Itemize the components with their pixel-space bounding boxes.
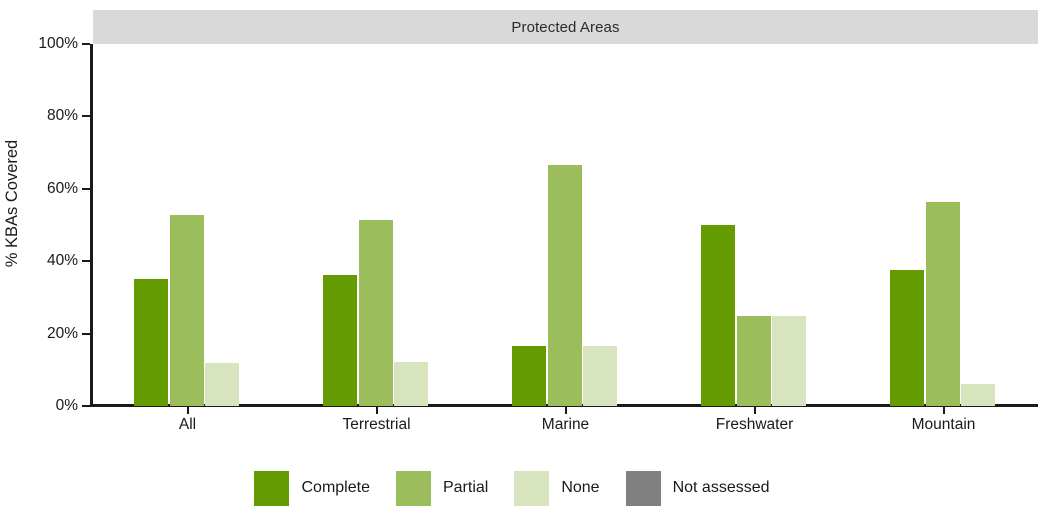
x-axis-label-freshwater: Freshwater	[716, 416, 794, 434]
bar-marine-none	[583, 346, 617, 406]
x-axis-tick	[376, 407, 378, 414]
x-axis-tick	[754, 407, 756, 414]
legend-label: None	[561, 479, 599, 497]
y-axis-tick	[82, 333, 90, 335]
legend-swatch-icon	[254, 471, 289, 506]
legend-item-partial[interactable]: Partial	[396, 471, 514, 506]
y-axis-tick	[82, 260, 90, 262]
y-axis-tick-label: 60%	[0, 180, 78, 198]
bar-all-partial	[170, 215, 204, 406]
bar-terrestrial-partial	[359, 220, 393, 406]
x-axis-label-all: All	[179, 416, 196, 434]
legend-label: Complete	[301, 479, 369, 497]
bar-mountain-none	[961, 384, 995, 406]
panel-title: Protected Areas	[511, 19, 619, 36]
plot-area	[93, 44, 1038, 406]
y-axis-tick	[82, 188, 90, 190]
bar-all-none	[205, 363, 239, 406]
bar-freshwater-partial	[737, 316, 771, 407]
y-axis-tick-label: 100%	[0, 35, 78, 53]
bar-chart: Protected Areas % KBAs Covered 0%20%40%6…	[0, 0, 1050, 525]
legend-item-none[interactable]: None	[514, 471, 625, 506]
legend-label: Not assessed	[673, 479, 770, 497]
bar-terrestrial-none	[394, 362, 428, 406]
legend-swatch-icon	[626, 471, 661, 506]
y-axis-tick-label: 80%	[0, 107, 78, 125]
x-axis-tick	[943, 407, 945, 414]
y-axis-tick-label: 0%	[0, 397, 78, 415]
y-axis-tick-label: 40%	[0, 252, 78, 270]
bar-all-complete	[134, 279, 168, 406]
bar-marine-partial	[548, 165, 582, 406]
bar-marine-complete	[512, 346, 546, 406]
x-axis-tick	[565, 407, 567, 414]
y-axis-title-text: % KBAs Covered	[4, 139, 23, 266]
legend-item-complete[interactable]: Complete	[254, 471, 395, 506]
y-axis-title: % KBAs Covered	[0, 0, 26, 406]
legend-swatch-icon	[514, 471, 549, 506]
y-axis-tick	[82, 43, 90, 45]
x-axis-label-mountain: Mountain	[912, 416, 976, 434]
bar-freshwater-none	[772, 316, 806, 407]
x-axis-tick	[187, 407, 189, 414]
bar-mountain-partial	[926, 202, 960, 406]
bar-terrestrial-complete	[323, 275, 357, 406]
x-axis-label-marine: Marine	[542, 416, 589, 434]
legend-label: Partial	[443, 479, 488, 497]
chart-legend: CompletePartialNoneNot assessed	[0, 465, 1050, 511]
panel-strip: Protected Areas	[93, 10, 1038, 44]
y-axis-tick	[82, 115, 90, 117]
y-axis-tick-label: 20%	[0, 325, 78, 343]
legend-swatch-icon	[396, 471, 431, 506]
legend-item-not-assessed[interactable]: Not assessed	[626, 471, 796, 506]
x-axis-label-terrestrial: Terrestrial	[342, 416, 410, 434]
y-axis-tick	[82, 405, 90, 407]
bar-freshwater-complete	[701, 225, 735, 406]
bar-mountain-complete	[890, 270, 924, 406]
